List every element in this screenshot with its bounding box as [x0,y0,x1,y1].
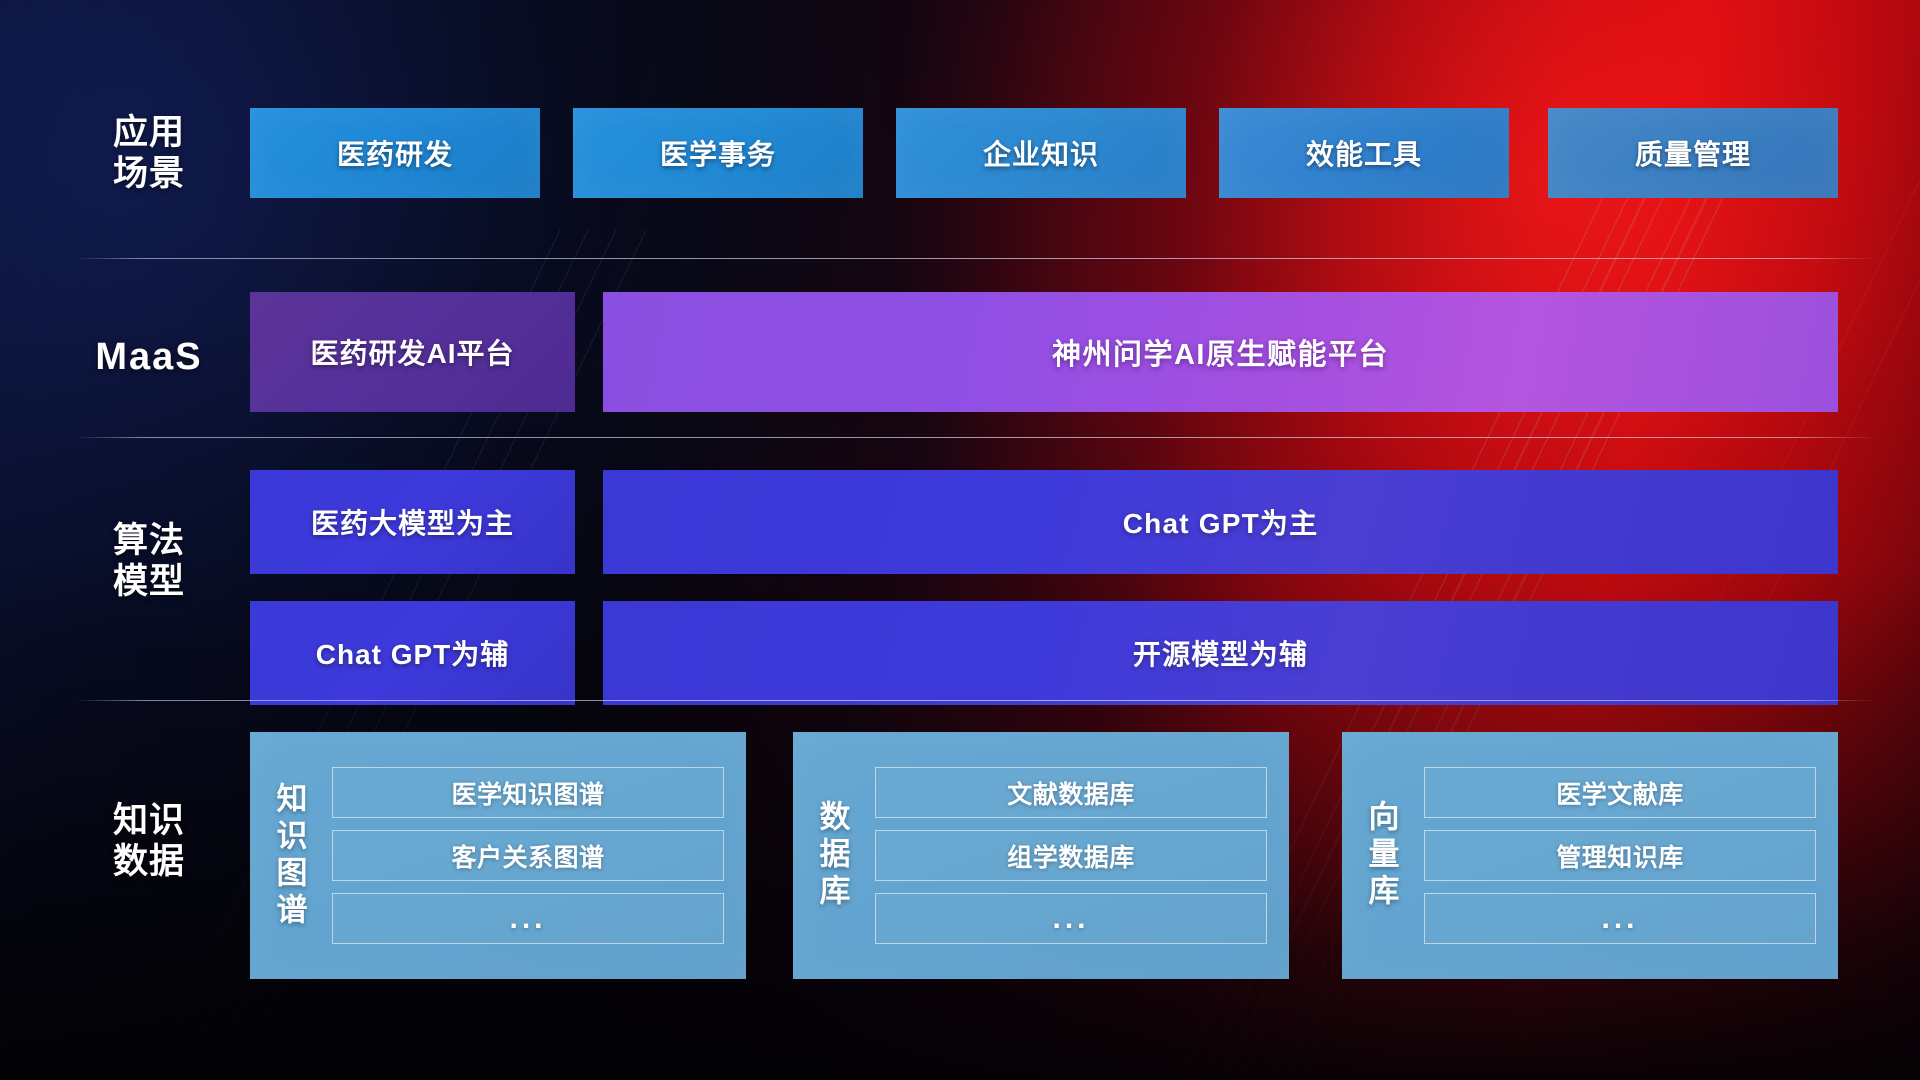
row-label-application-line1: 应用 [74,112,224,153]
maas-box-shenzhou-wenxue-platform[interactable]: 神州问学AI原生赋能平台 [603,292,1838,412]
knowledge-item-medical-graph[interactable]: 医学知识图谱 [332,767,724,818]
knowledge-item-graph-more[interactable]: ... [332,893,724,944]
app-box-quality-management[interactable]: 质量管理 [1548,108,1838,198]
architecture-diagram-canvas: 应用 场景 医药研发 医学事务 企业知识 效能工具 质量管理 MaaS 医药研发… [0,0,1920,1080]
knowledge-group-database-items: 文献数据库 组学数据库 ... [871,732,1289,979]
app-box-pharma-rnd[interactable]: 医药研发 [250,108,540,198]
divider-algorithm-knowledge [74,700,1878,701]
knowledge-group-vector-label: 向量库 [1342,732,1420,979]
knowledge-item-customer-graph[interactable]: 客户关系图谱 [332,830,724,881]
row-label-knowledge-line2: 数据 [74,841,224,882]
row-label-algorithm-line2: 模型 [74,561,224,602]
knowledge-group-database: 数据库 文献数据库 组学数据库 ... [793,732,1289,979]
row-label-knowledge: 知识 数据 [74,800,224,883]
knowledge-item-database-more[interactable]: ... [875,893,1267,944]
knowledge-group-graph-items: 医学知识图谱 客户关系图谱 ... [328,732,746,979]
row-label-application: 应用 场景 [74,112,224,195]
knowledge-item-medical-literature[interactable]: 医学文献库 [1424,767,1816,818]
algo-box-chatgpt-primary[interactable]: Chat GPT为主 [603,470,1838,574]
algo-box-chatgpt-secondary[interactable]: Chat GPT为辅 [250,601,575,705]
knowledge-group-vector: 向量库 医学文献库 管理知识库 ... [1342,732,1838,979]
knowledge-item-literature-db[interactable]: 文献数据库 [875,767,1267,818]
row-label-maas: MaaS [74,335,224,380]
algo-box-pharma-large-model-primary[interactable]: 医药大模型为主 [250,470,575,574]
knowledge-item-omics-db[interactable]: 组学数据库 [875,830,1267,881]
app-box-efficiency-tools[interactable]: 效能工具 [1219,108,1509,198]
app-box-enterprise-knowledge[interactable]: 企业知识 [896,108,1186,198]
knowledge-group-database-label: 数据库 [793,732,871,979]
knowledge-group-graph: 知识图谱 医学知识图谱 客户关系图谱 ... [250,732,746,979]
knowledge-item-management-knowledge[interactable]: 管理知识库 [1424,830,1816,881]
app-box-medical-affairs[interactable]: 医学事务 [573,108,863,198]
maas-box-pharma-ai-platform[interactable]: 医药研发AI平台 [250,292,575,412]
knowledge-group-vector-items: 医学文献库 管理知识库 ... [1420,732,1838,979]
row-label-knowledge-line1: 知识 [74,800,224,841]
row-label-application-line2: 场景 [74,153,224,194]
knowledge-item-vector-more[interactable]: ... [1424,893,1816,944]
algo-box-opensource-model-secondary[interactable]: 开源模型为辅 [603,601,1838,705]
row-label-algorithm-line1: 算法 [74,520,224,561]
divider-application-maas [74,258,1878,259]
row-label-algorithm: 算法 模型 [74,520,224,603]
divider-maas-algorithm [74,437,1878,438]
knowledge-group-graph-label: 知识图谱 [250,732,328,979]
